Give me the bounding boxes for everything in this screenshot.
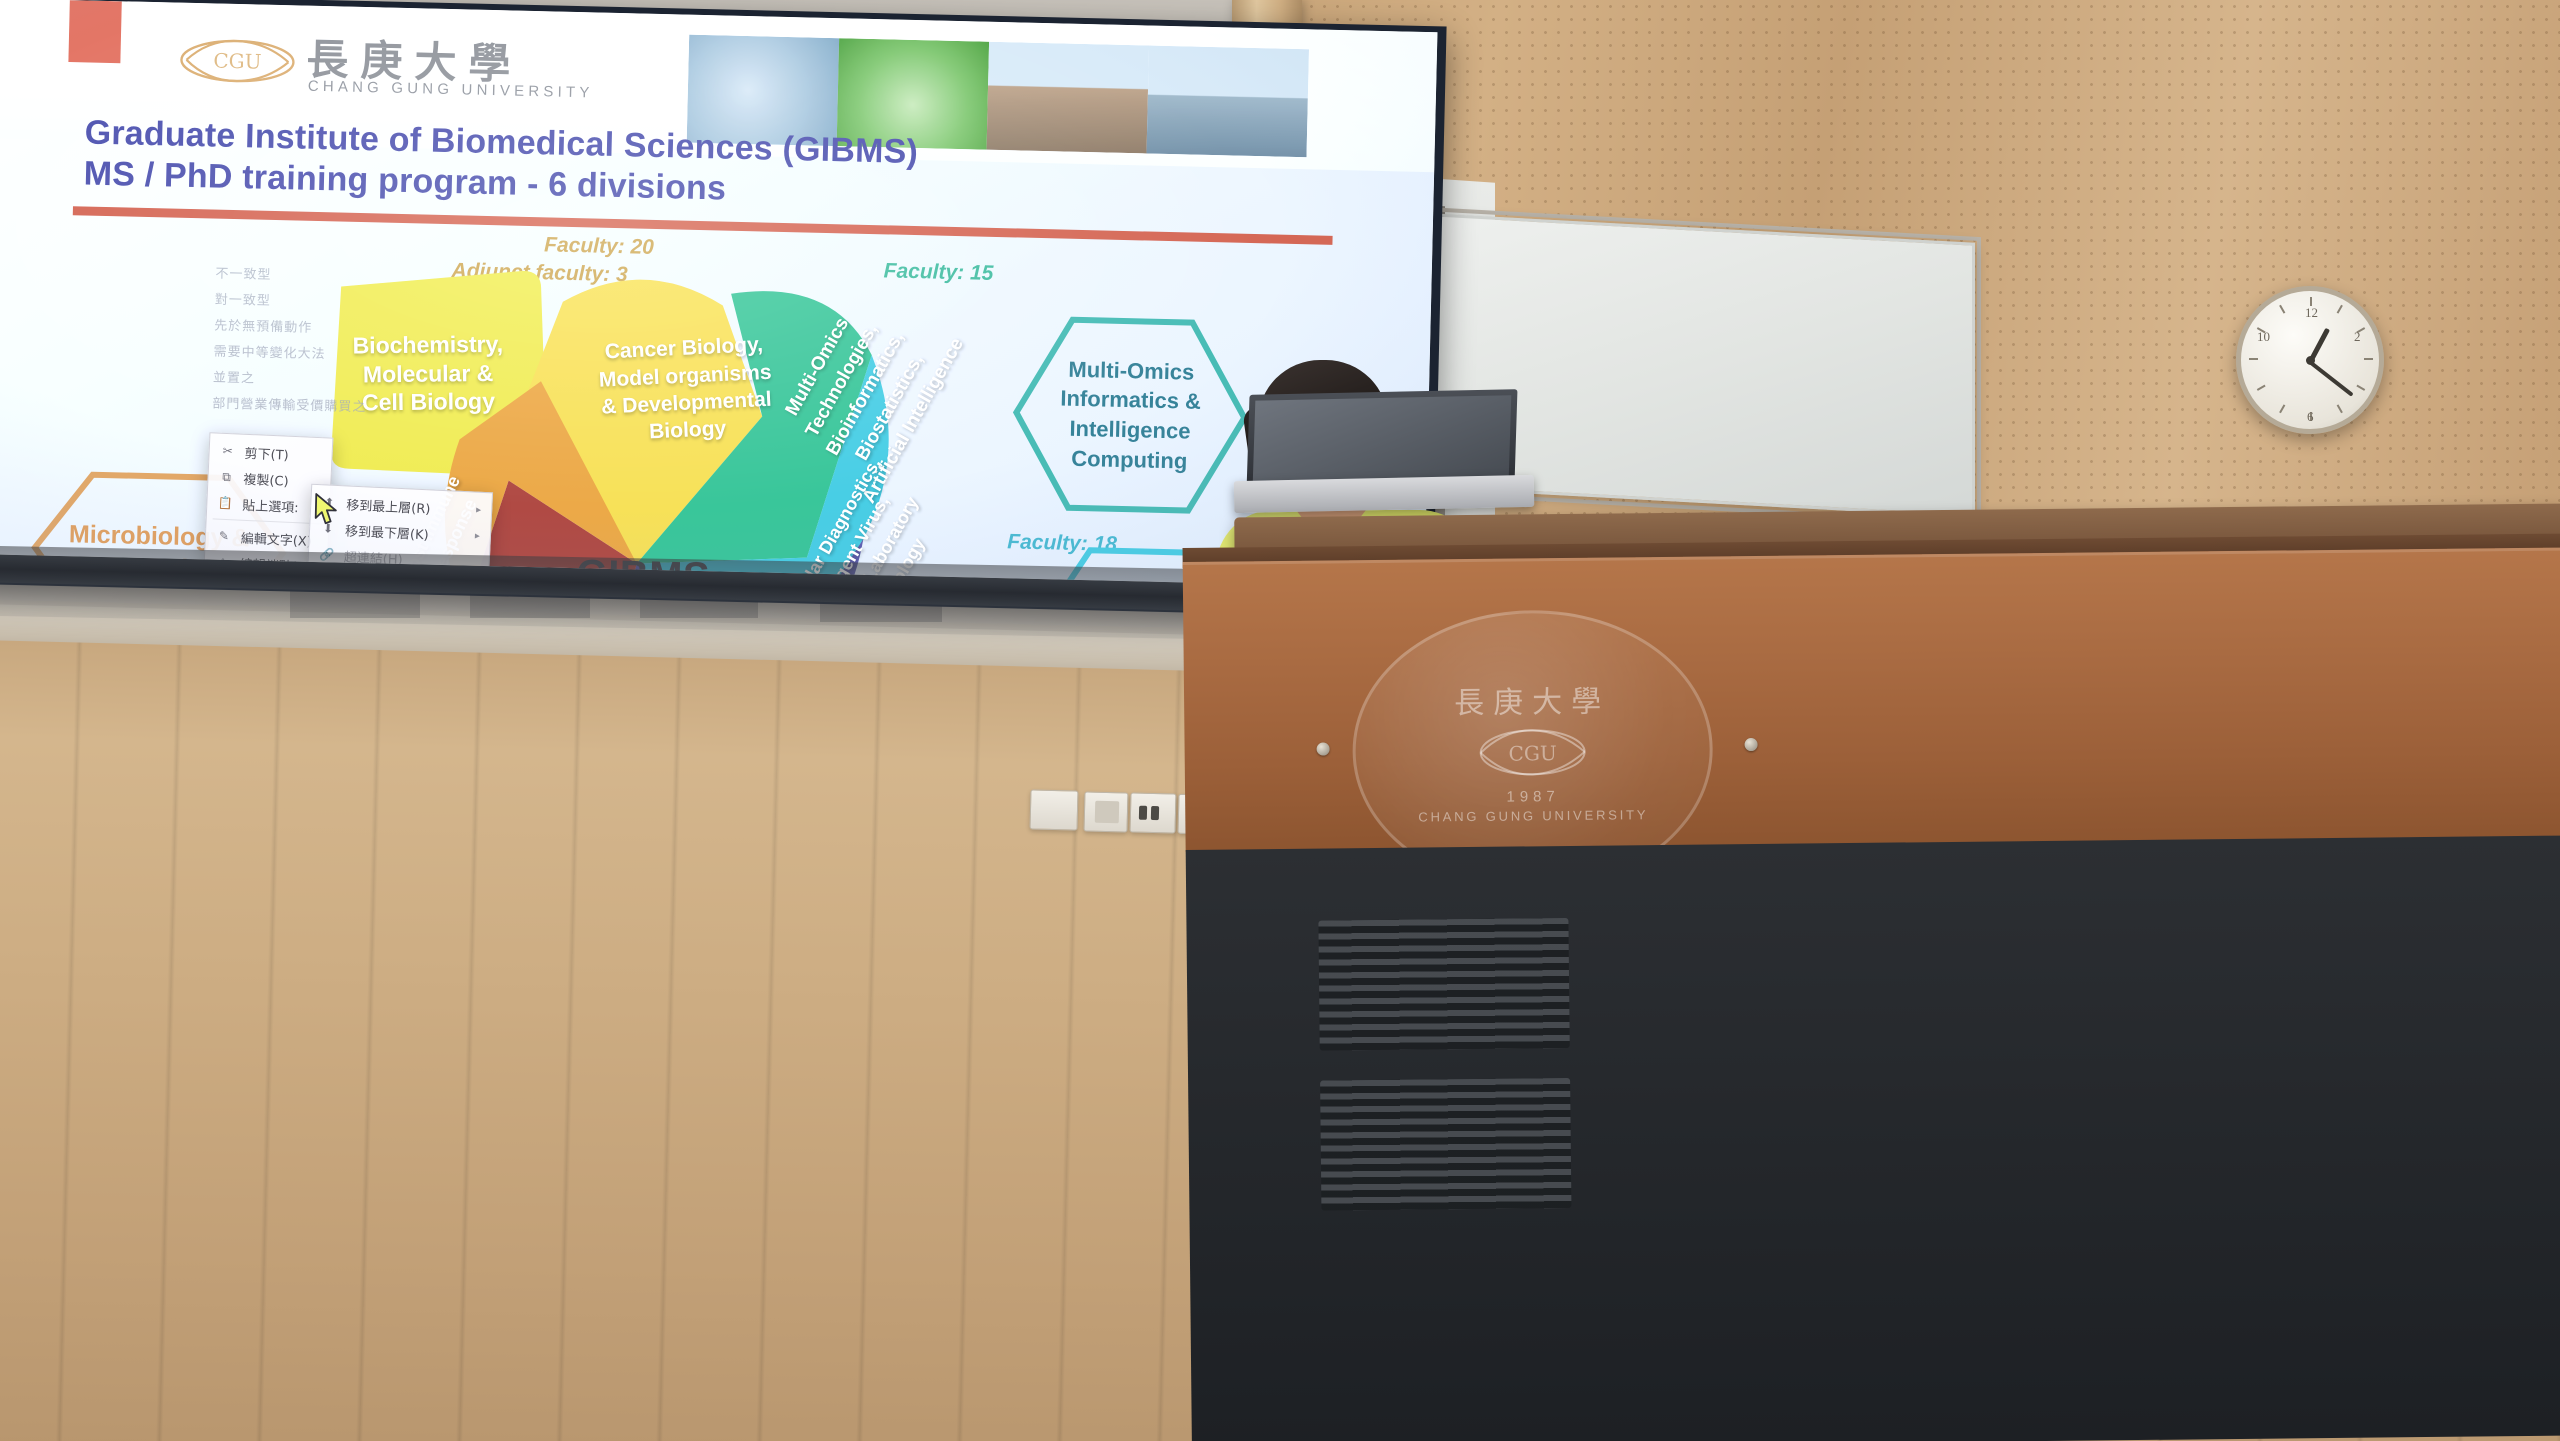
lectern-podium: 長庚大學 CGU 1987 CHANG GUNG UNIVERSITY	[1182, 485, 2560, 1441]
podium-screw	[1745, 738, 1758, 751]
copy-icon: ⧉	[218, 469, 235, 485]
podium-base-cabinet	[1186, 835, 2560, 1441]
clock-number: 2	[2354, 329, 2361, 345]
svg-text:CGU: CGU	[213, 48, 262, 73]
podium-screw	[1317, 742, 1330, 755]
svg-text:CGU: CGU	[1508, 741, 1556, 766]
cgu-emblem-icon: CGU	[178, 31, 297, 92]
podium-front-panel: 長庚大學 CGU 1987 CHANG GUNG UNIVERSITY	[1183, 547, 2560, 852]
scissors-icon: ✂	[219, 444, 236, 459]
clock-minute-hand	[2309, 360, 2354, 396]
chevron-right-icon: ▸	[475, 530, 481, 541]
clock-number: 12	[2305, 305, 2318, 321]
laptop-screen	[1253, 395, 1512, 484]
wall-av-port	[1130, 792, 1177, 833]
podium-seal-year: 1987	[1506, 788, 1560, 806]
podium-seal-name-en: CHANG GUNG UNIVERSITY	[1418, 807, 1648, 824]
podium-vent-grille	[1318, 918, 1569, 1051]
edit-text-icon: ✎	[216, 529, 233, 544]
podium-vent-grille	[1320, 1078, 1571, 1211]
hexagon-label-multiomics-informatics: Multi-OmicsInformatics &IntelligenceComp…	[1019, 343, 1242, 488]
wall-data-port	[1084, 791, 1129, 832]
university-name-en: CHANG GUNG UNIVERSITY	[308, 78, 594, 102]
university-logo: CGU 長庚大學 CHANG GUNG UNIVERSITY	[177, 21, 599, 117]
podium-seal-emblem-icon: CGU	[1472, 721, 1593, 784]
clock-center-pin	[2306, 356, 2315, 365]
chevron-right-icon: ▸	[476, 504, 482, 515]
clock-number: 10	[2257, 329, 2270, 345]
wall-socket	[1030, 789, 1079, 830]
paste-icon: 📋	[217, 496, 234, 511]
clock-number: 6	[2307, 409, 2314, 425]
faculty-note-top1: Faculty: 20	[544, 233, 654, 260]
wall-clock: 12 2 6 10	[2236, 286, 2384, 434]
podium-seal-name-cn: 長庚大學	[1454, 677, 1610, 723]
mouse-cursor-icon	[313, 493, 340, 528]
screenshot-root: 12 2 6 10	[0, 0, 2560, 1441]
header-red-accent	[68, 0, 121, 63]
